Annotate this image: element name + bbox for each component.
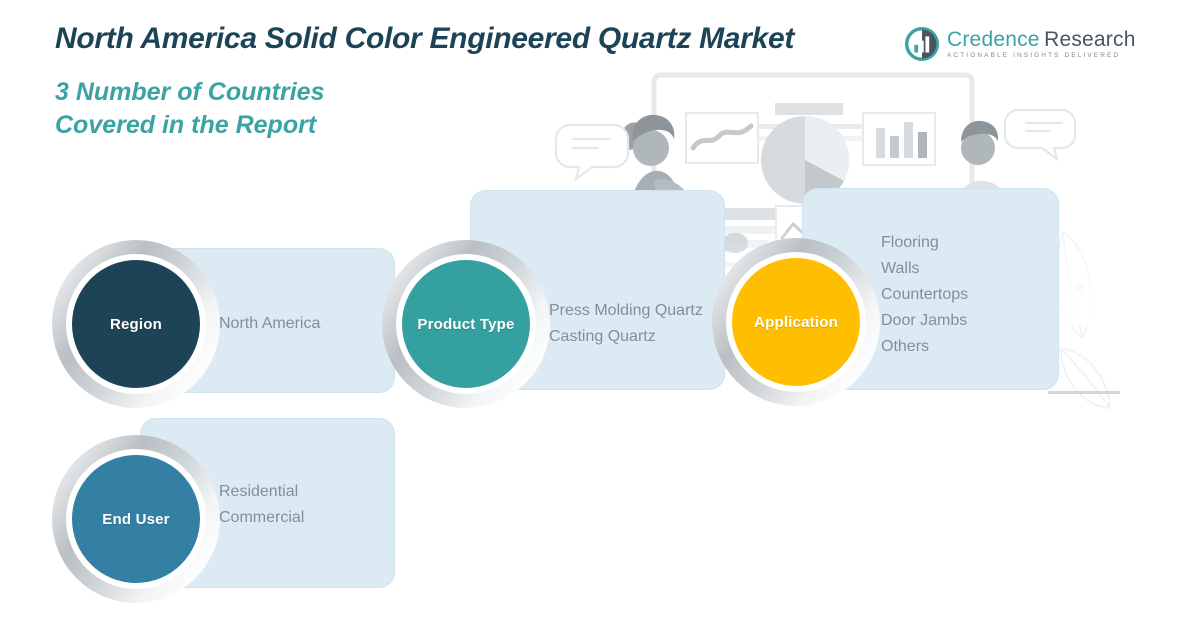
segment-end-user[interactable]: End User Residential Commercial (52, 410, 397, 595)
segment-application-items: Flooring Walls Countertops Door Jambs Ot… (881, 230, 968, 360)
segment-application[interactable]: Application Flooring Walls Countertops D… (702, 188, 1059, 405)
list-item: Press Molding Quartz (549, 298, 703, 324)
segment-application-bubble[interactable]: Application (732, 258, 860, 386)
line-chart-icon (686, 113, 758, 163)
segment-product-type-items: Press Molding Quartz Casting Quartz (549, 298, 703, 350)
segment-application-label: Application (754, 314, 838, 331)
speech-bubble-icon (556, 110, 1075, 179)
list-item: Walls (881, 256, 968, 282)
segment-product-type-label: Product Type (417, 316, 514, 333)
segment-end-user-bubble[interactable]: End User (72, 455, 200, 583)
list-item: North America (219, 311, 320, 337)
list-item: Flooring (881, 230, 968, 256)
segment-region-items: North America (219, 311, 320, 337)
logo-tagline: Actionable Insights Delivered (947, 53, 1136, 60)
list-item: Others (881, 334, 968, 360)
page-subtitle: 3 Number of Countries Covered in the Rep… (55, 76, 324, 142)
segment-region-label: Region (110, 316, 162, 333)
bar-chart-icon (863, 113, 935, 165)
logo-wordmark: Credence Research (947, 29, 1136, 50)
segment-end-user-items: Residential Commercial (219, 479, 304, 531)
list-item: Residential (219, 479, 304, 505)
bar-chart-circle-icon (905, 27, 939, 61)
brand-logo[interactable]: Credence Research Actionable Insights De… (905, 27, 1136, 61)
logo-name-primary: Credence (947, 28, 1040, 51)
list-item: Door Jambs (881, 308, 968, 334)
dot-decoration (1074, 283, 1084, 293)
list-item: Casting Quartz (549, 324, 703, 350)
subtitle-line-2: Covered in the Report (55, 109, 324, 142)
list-item: Countertops (881, 282, 968, 308)
segment-region-bubble[interactable]: Region (72, 260, 200, 388)
segment-end-user-label: End User (102, 511, 169, 528)
segment-region[interactable]: Region North America (52, 240, 397, 405)
infographic-canvas: North America Solid Color Engineered Qua… (0, 0, 1177, 621)
leaf-outline-icon (1057, 232, 1110, 408)
segment-product-type-bubble[interactable]: Product Type (402, 260, 530, 388)
page-title: North America Solid Color Engineered Qua… (55, 22, 794, 56)
logo-text: Credence Research Actionable Insights De… (947, 29, 1136, 60)
subtitle-line-1: 3 Number of Countries (55, 76, 324, 109)
segment-product-type[interactable]: Product Type Press Molding Quartz Castin… (382, 190, 727, 405)
speech-bubble-lines (573, 123, 1062, 148)
logo-name-secondary: Research (1044, 28, 1135, 51)
list-item: Commercial (219, 505, 304, 531)
